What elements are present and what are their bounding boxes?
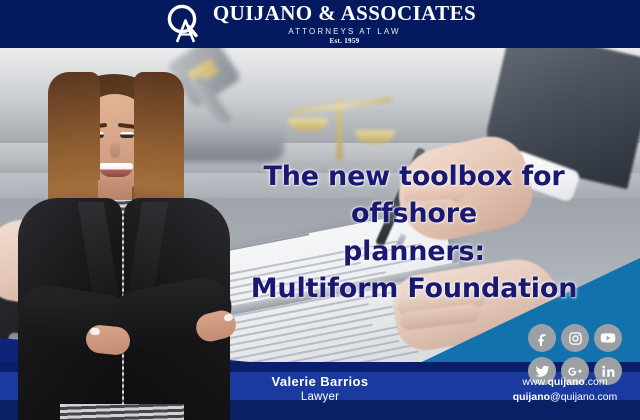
firm-established: Est. 1959 [330,38,360,45]
website-bold: quijano [547,376,584,388]
website-link[interactable]: www.quijano.com [490,375,640,390]
scales-of-justice-pole [337,100,342,160]
title-line-1: The new toolbox for offshore [196,158,632,233]
email-bold: quijano [513,391,550,403]
website-suffix: .com [585,376,608,388]
skirt [60,404,184,420]
fingernails-left [90,327,101,335]
youtube-icon[interactable] [594,324,622,352]
page-title: The new toolbox for offshore planners: M… [196,158,632,307]
eye-right [120,132,134,138]
presenter-info: Valerie Barrios Lawyer [210,374,430,405]
email-link[interactable]: quijano@quijano.com [490,390,640,405]
presenter-name: Valerie Barrios [210,374,430,390]
firm-name: QUIJANO & ASSOCIATES [213,3,476,24]
poster-canvas: Contract [0,0,640,420]
presenter-role: Lawyer [210,390,430,405]
nose [110,142,120,158]
smile [99,163,133,177]
website-prefix: www. [522,376,547,388]
title-line-3: Multiform Foundation [196,270,632,307]
header-bar: QUIJANO & ASSOCIATES ATTORNEYS AT LAW Es… [0,0,640,48]
instagram-icon[interactable] [561,324,589,352]
brand-text: QUIJANO & ASSOCIATES ATTORNEYS AT LAW Es… [213,3,476,45]
brand-lockup[interactable]: QUIJANO & ASSOCIATES ATTORNEYS AT LAW Es… [164,3,476,45]
title-line-2: planners: [196,233,632,270]
contact-info: www.quijano.com quijano@quijano.com [490,375,640,405]
email-suffix: @quijano.com [550,391,617,403]
firm-tagline: ATTORNEYS AT LAW [288,28,400,36]
facebook-icon[interactable] [528,324,556,352]
qa-monogram-icon [164,3,206,45]
